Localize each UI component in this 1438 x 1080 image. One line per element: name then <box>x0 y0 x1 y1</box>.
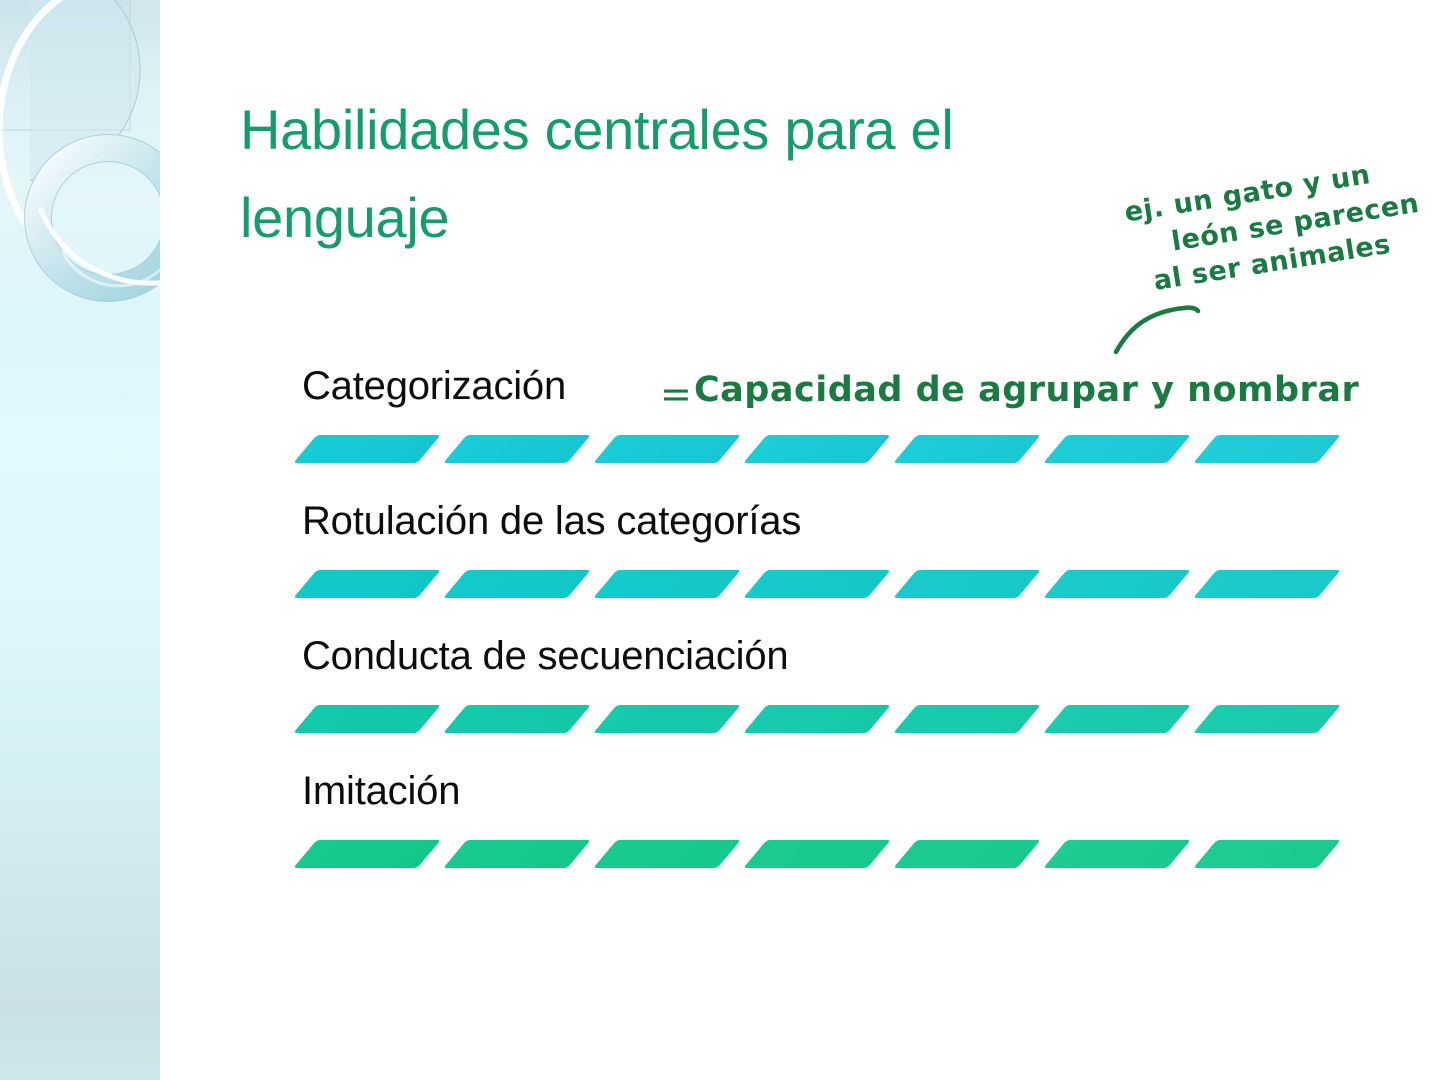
bar-segment <box>443 570 590 598</box>
bar-segment <box>743 570 890 598</box>
decorative-sidebar <box>0 0 160 1080</box>
bar-segment <box>443 840 590 868</box>
slide-title: Habilidades centrales para el lenguaje <box>240 86 1190 262</box>
bar-segment <box>443 435 590 463</box>
bar-segment <box>1043 570 1190 598</box>
bar-segment <box>293 840 440 868</box>
bar-segment <box>1043 435 1190 463</box>
sidebar-rings-graphic <box>0 0 160 1080</box>
divider-bars-4 <box>285 840 1330 870</box>
bullet-label-categorizacion: Categorización <box>302 362 566 410</box>
bar-segment <box>1043 705 1190 733</box>
bullet-label-imitacion: Imitación <box>302 767 460 815</box>
bar-segment <box>743 705 890 733</box>
bar-segment <box>593 435 740 463</box>
divider-bars-2 <box>285 570 1330 600</box>
bar-segment <box>893 435 1040 463</box>
bar-segment <box>743 840 890 868</box>
handwritten-equals-sign: = <box>660 372 692 416</box>
divider-bars-1 <box>285 435 1330 465</box>
bar-segment <box>593 705 740 733</box>
bar-segment <box>1193 570 1340 598</box>
bar-segment <box>893 705 1040 733</box>
bar-segment <box>593 840 740 868</box>
divider-bars-3 <box>285 705 1330 735</box>
bar-segment <box>893 840 1040 868</box>
bar-segment <box>293 435 440 463</box>
bar-segment <box>593 570 740 598</box>
bullet-label-rotulacion: Rotulación de las categorías <box>302 497 801 545</box>
slide-canvas: Habilidades centrales para el lenguaje C… <box>0 0 1438 1080</box>
bar-segment <box>443 705 590 733</box>
bar-segment <box>293 570 440 598</box>
bar-segment <box>893 570 1040 598</box>
bar-segment <box>1193 435 1340 463</box>
bar-segment <box>743 435 890 463</box>
bar-segment <box>1043 840 1190 868</box>
bar-segment <box>293 705 440 733</box>
bullet-label-conducta: Conducta de secuenciación <box>302 632 788 680</box>
handwritten-pointer-curve <box>1110 290 1220 360</box>
bar-segment <box>1193 705 1340 733</box>
handwritten-definition-text: Capacidad de agrupar y nombrar <box>694 370 1359 410</box>
bar-segment <box>1193 840 1340 868</box>
